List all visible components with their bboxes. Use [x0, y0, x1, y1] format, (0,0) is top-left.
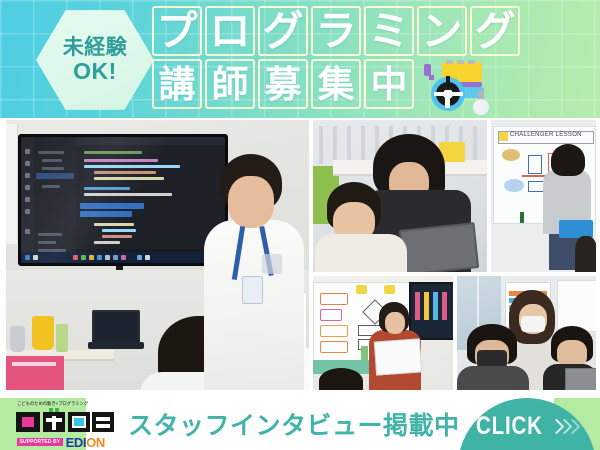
wall-document [557, 280, 596, 332]
sponsor-wordmark: EDION [66, 436, 105, 449]
sticky-yellow-2 [384, 285, 395, 294]
photo-collage: CHALLENGER LESSON [0, 118, 600, 398]
trophy-gold [32, 316, 54, 350]
drink-bottle [56, 324, 68, 352]
trophy-silver [10, 326, 25, 352]
promo-banner: 未経験 OK! プ ロ グ ラ ミ ン グ 講 師 募 集 中 [0, 0, 600, 450]
presented-material [374, 338, 422, 375]
robot-wordmark-logo-icon [16, 408, 116, 434]
whiteboard-diagram-b [528, 155, 542, 174]
photo-whiteboard-lesson: CHALLENGER LESSON [491, 120, 596, 272]
headline-char: ン [417, 6, 467, 56]
banner-header: 未経験 OK! プ ロ グ ラ ミ ン グ 講 師 募 集 中 [0, 0, 600, 118]
photo-instructor-monitor [6, 120, 309, 390]
robot-car-icon [420, 58, 500, 116]
laptop [92, 310, 140, 344]
headline-char: 講 [152, 59, 202, 109]
flow-note-a [320, 293, 348, 305]
seated-child [575, 236, 596, 272]
headline-char: 募 [258, 59, 308, 109]
photo-masked-students [457, 276, 596, 390]
flow-note-d [320, 341, 348, 353]
banner-footer: こどものための動き×プログラミング SUPPORTED BY EDIO [0, 398, 600, 450]
logo-tagline: こどものための動き×プログラミング [17, 401, 88, 407]
headline-char: 中 [364, 59, 414, 109]
wall-shelf [6, 124, 18, 244]
child-body [315, 234, 407, 272]
sticky-yellow-1 [356, 285, 367, 294]
experience-badge: 未経験 OK! [36, 8, 154, 112]
headline-char: ロ [205, 6, 255, 56]
teacher-face-mask [521, 316, 545, 332]
chevron-right-icon [554, 421, 578, 432]
screen-glare [21, 137, 225, 263]
brand-logo[interactable]: こどものための動き×プログラミング SUPPORTED BY EDIO [16, 401, 116, 448]
flow-note-c [320, 325, 348, 337]
cta-inner: CLICK [476, 412, 578, 441]
whiteboard-sticky-yellow [499, 132, 508, 141]
laptop [565, 368, 596, 390]
headline-char: グ [258, 6, 308, 56]
headline-row-1: プ ロ グ ラ ミ ン グ [152, 6, 520, 56]
supported-by-label: SUPPORTED BY [17, 438, 63, 446]
cta-label: CLICK [476, 412, 543, 441]
badge-line-2: OK! [73, 60, 117, 83]
laptop [399, 222, 479, 272]
wall-poster [6, 356, 64, 390]
student-hair [551, 144, 585, 176]
whiteboard-note-2 [504, 179, 524, 192]
whiteboard-note-1 [502, 149, 520, 161]
sponsor-on: ON [86, 436, 105, 449]
headline-char: ミ [364, 6, 414, 56]
photo-presenter-flowchart [313, 276, 453, 390]
photo-mentor-child-laptop [313, 120, 487, 272]
headline-char: プ [152, 6, 202, 56]
whiteboard-lesson-title: CHALLENGER LESSON [510, 132, 582, 138]
badge-line-1: 未経験 [63, 37, 128, 58]
student-left-body [457, 366, 529, 390]
headline-char: ラ [311, 6, 361, 56]
headline-char: 師 [205, 59, 255, 109]
logo-sponsor-row: SUPPORTED BY EDION [17, 437, 105, 447]
flow-note-b [320, 309, 342, 321]
headline-char: グ [470, 6, 520, 56]
presenter-face [385, 312, 405, 334]
audience-head [319, 368, 363, 390]
footer-message: スタッフインタビュー掲載中 [128, 406, 460, 442]
instructor-figure [202, 154, 306, 390]
marker-pen [520, 212, 524, 223]
headline-char: 集 [311, 59, 361, 109]
large-display [18, 134, 228, 266]
sponsor-ed: ED [66, 436, 83, 449]
display-screen [409, 282, 453, 340]
